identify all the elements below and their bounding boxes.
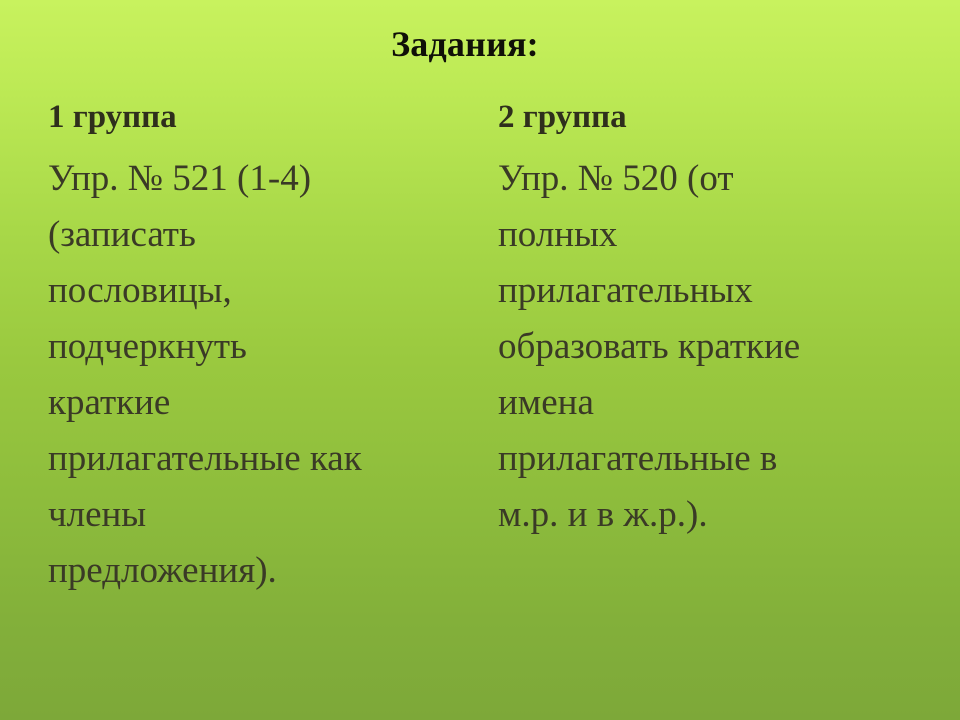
page-title: Задания: (0, 24, 930, 65)
task-line: краткие (48, 375, 455, 431)
slide-canvas: Задания: 1 группа Упр. № 521 (1-4) (запи… (0, 0, 960, 720)
task-line: Упр. № 521 (1-4) (48, 151, 455, 207)
group-2-heading: 2 группа (498, 98, 915, 137)
task-line: прилагательных (498, 263, 915, 319)
task-column-group-1: 1 группа Упр. № 521 (1-4) (записать посл… (0, 98, 455, 599)
task-columns: 1 группа Упр. № 521 (1-4) (записать посл… (0, 98, 960, 599)
task-line: прилагательные как (48, 431, 455, 487)
task-line: Упр. № 520 (от (498, 151, 915, 207)
group-1-heading: 1 группа (48, 98, 455, 137)
task-line: образовать краткие (498, 319, 915, 375)
task-line: предложения). (48, 543, 455, 599)
task-line: члены (48, 487, 455, 543)
task-line: полных (498, 207, 915, 263)
task-line: м.р. и в ж.р.). (498, 487, 915, 543)
group-1-task-text: Упр. № 521 (1-4) (записать пословицы, по… (48, 151, 455, 599)
task-column-group-2: 2 группа Упр. № 520 (от полных прилагате… (455, 98, 915, 543)
task-line: прилагательные в (498, 431, 915, 487)
task-line: (записать (48, 207, 455, 263)
task-line: пословицы, (48, 263, 455, 319)
group-2-task-text: Упр. № 520 (от полных прилагательных обр… (498, 151, 915, 543)
task-line: имена (498, 375, 915, 431)
task-line: подчеркнуть (48, 319, 455, 375)
